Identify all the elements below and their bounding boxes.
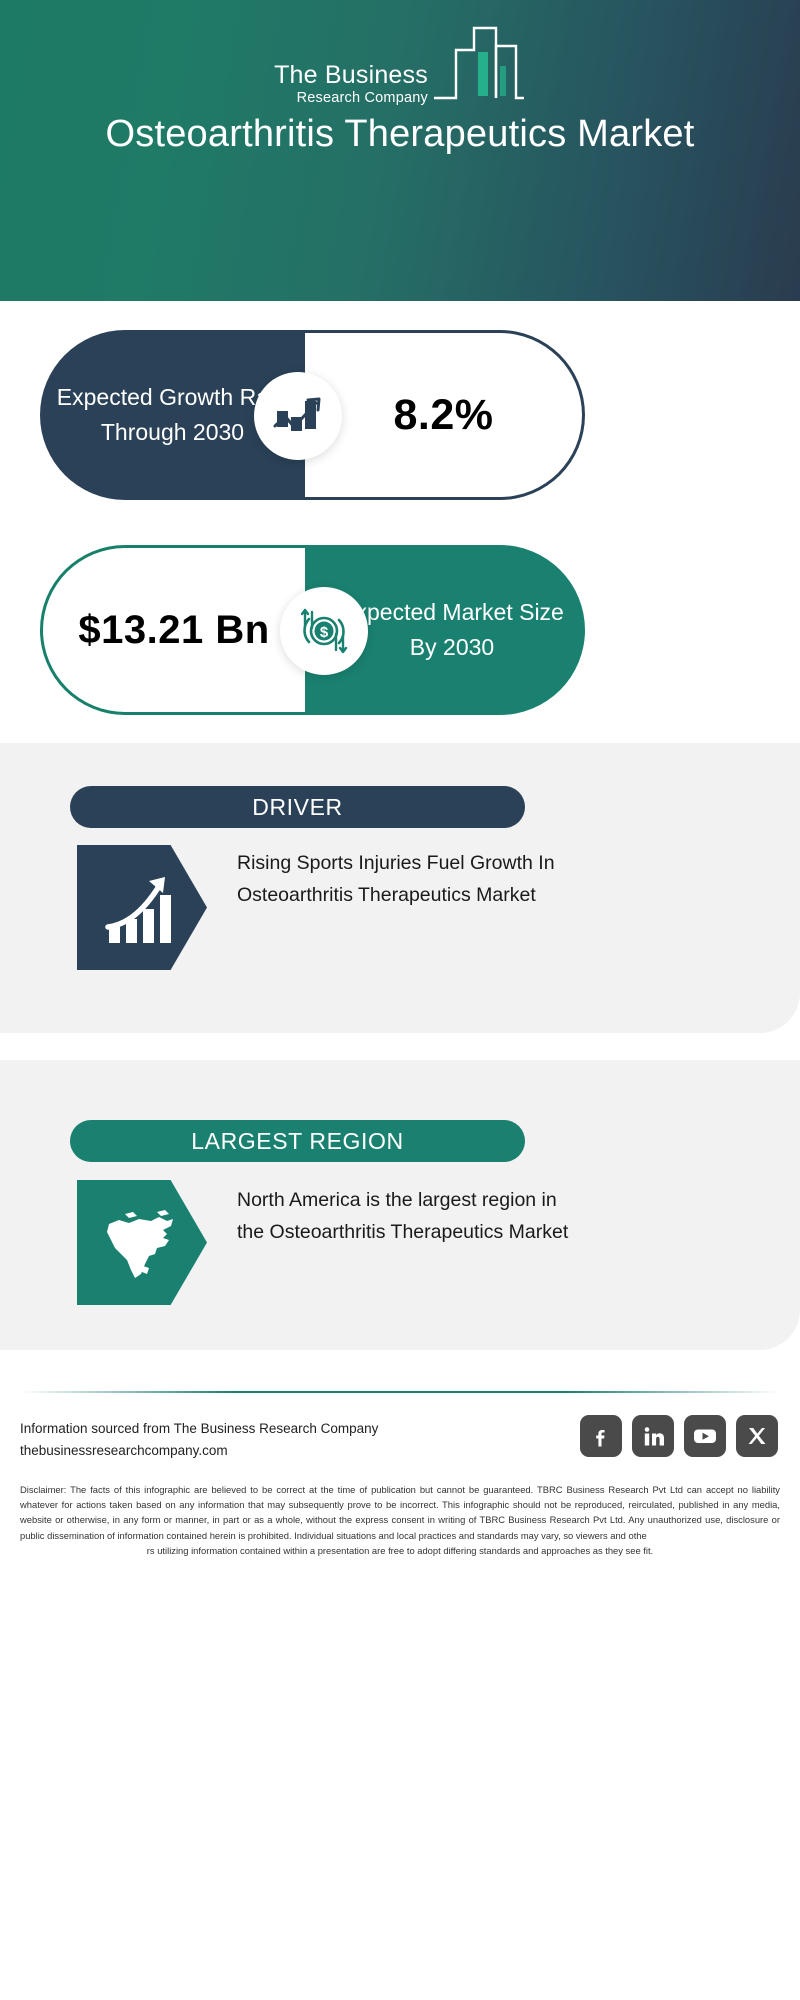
logo-text: The Business Research Company [274,63,428,106]
growth-rate-value: 8.2% [393,391,493,440]
disclaimer-last-line: rs utilizing information contained withi… [20,1543,780,1558]
company-logo: The Business Research Company [0,24,800,105]
driver-pill-label: DRIVER [70,786,525,828]
market-size-card: $13.21 Bn Expected Market Size By 2030 $ [40,545,585,715]
logo-line-2: Research Company [274,91,428,106]
header-banner: The Business Research Company Osteoarthr… [0,0,800,301]
growth-chart-arrow-icon [254,372,342,460]
disclaimer-text: Disclaimer: The facts of this infographi… [20,1482,780,1558]
largest-region-pill-label: LARGEST REGION [70,1120,525,1162]
x-twitter-icon[interactable] [736,1415,778,1457]
dollar-cycle-icon: $ [280,587,368,675]
svg-text:$: $ [320,624,329,641]
facebook-icon[interactable] [580,1415,622,1457]
infographic-page: The Business Research Company Osteoarthr… [0,0,800,2000]
footer-source-line-2[interactable]: thebusinessresearchcompany.com [20,1440,440,1462]
footer-source: Information sourced from The Business Re… [20,1418,440,1462]
market-size-value-panel: $13.21 Bn [40,545,305,715]
largest-region-body-text: North America is the largest region in t… [237,1185,582,1248]
page-title: Osteoarthritis Therapeutics Market [60,110,740,159]
footer-source-line-1: Information sourced from The Business Re… [20,1418,440,1440]
bar-chart-logo-icon [430,24,526,107]
growth-rate-card: Expected Growth Rate Through 2030 8.2% [40,330,585,500]
disclaimer-main: Disclaimer: The facts of this infographi… [20,1484,780,1541]
growth-rate-value-panel: 8.2% [305,330,585,500]
youtube-icon[interactable] [684,1415,726,1457]
social-links [580,1415,778,1457]
logo-line-1: The Business [274,63,428,88]
linkedin-icon[interactable] [632,1415,674,1457]
driver-body-text: Rising Sports Injuries Fuel Growth In Os… [237,848,582,911]
footer-divider [20,1391,780,1393]
market-size-value: $13.21 Bn [78,606,269,655]
